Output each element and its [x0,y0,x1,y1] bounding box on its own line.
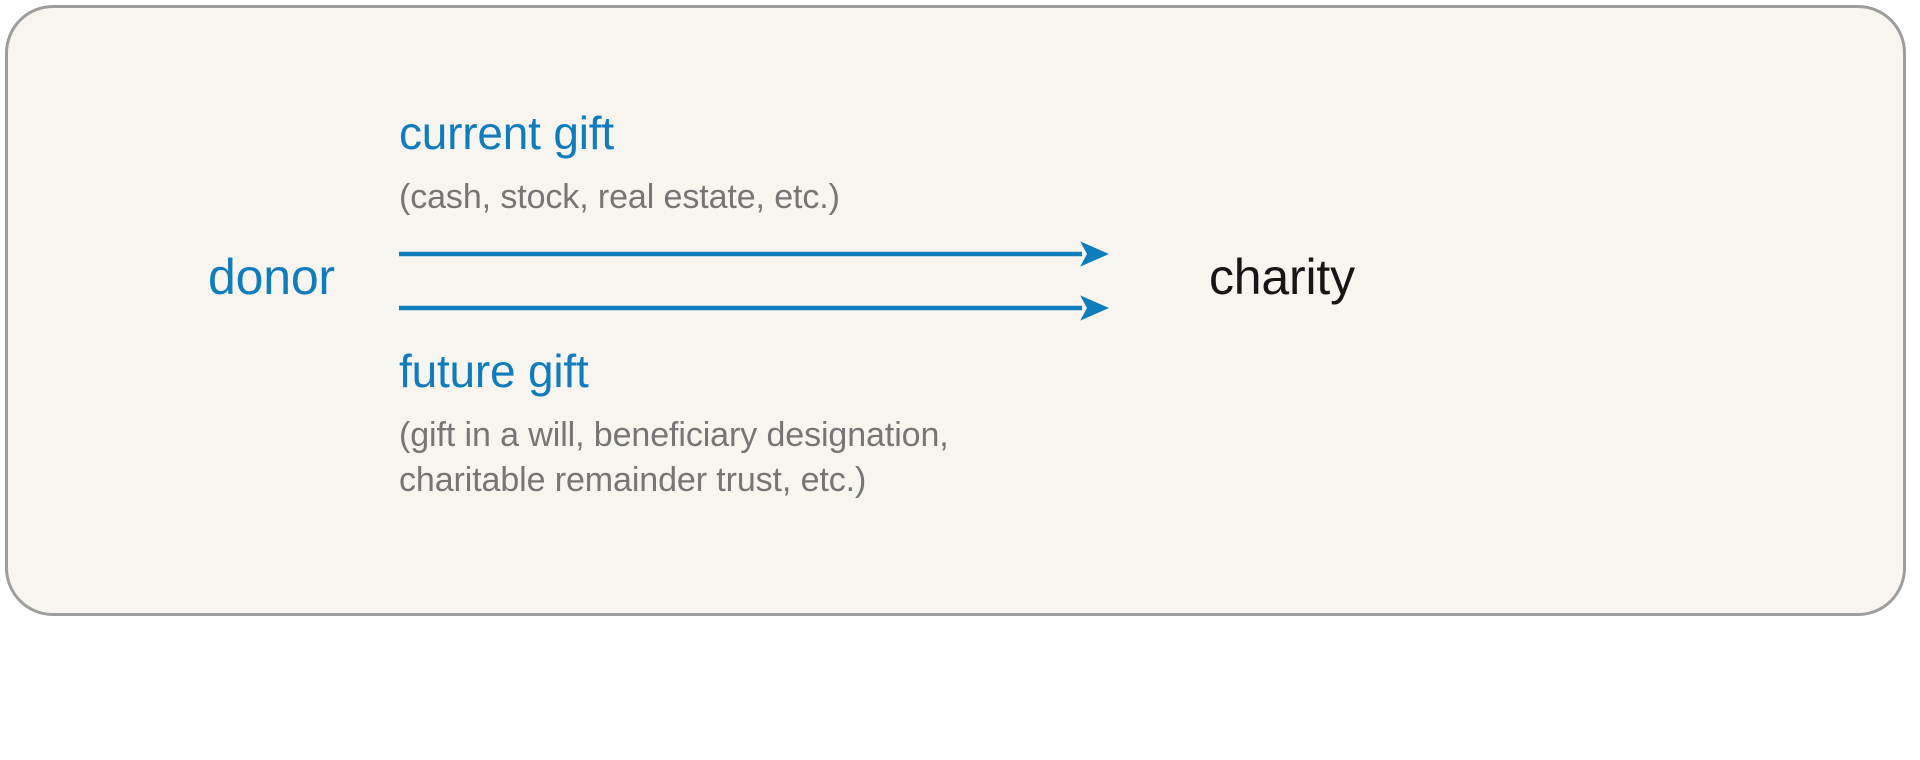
donor-label: donor [208,252,335,302]
future-gift-note-wrapper: (gift in a will, beneficiary designation… [399,413,949,503]
diagram-canvas: donor charity current gift (cash, stock,… [0,0,1920,760]
current-gift-title: current gift [399,110,614,156]
diagram-card [5,5,1906,616]
current-gift-note: (cash, stock, real estate, etc.) [399,175,840,220]
charity-label: charity [1209,252,1355,302]
future-gift-note-line-1: (gift in a will, beneficiary designation… [399,413,949,458]
future-gift-note-line-2: charitable remainder trust, etc.) [399,458,949,503]
future-gift-title: future gift [399,348,589,394]
